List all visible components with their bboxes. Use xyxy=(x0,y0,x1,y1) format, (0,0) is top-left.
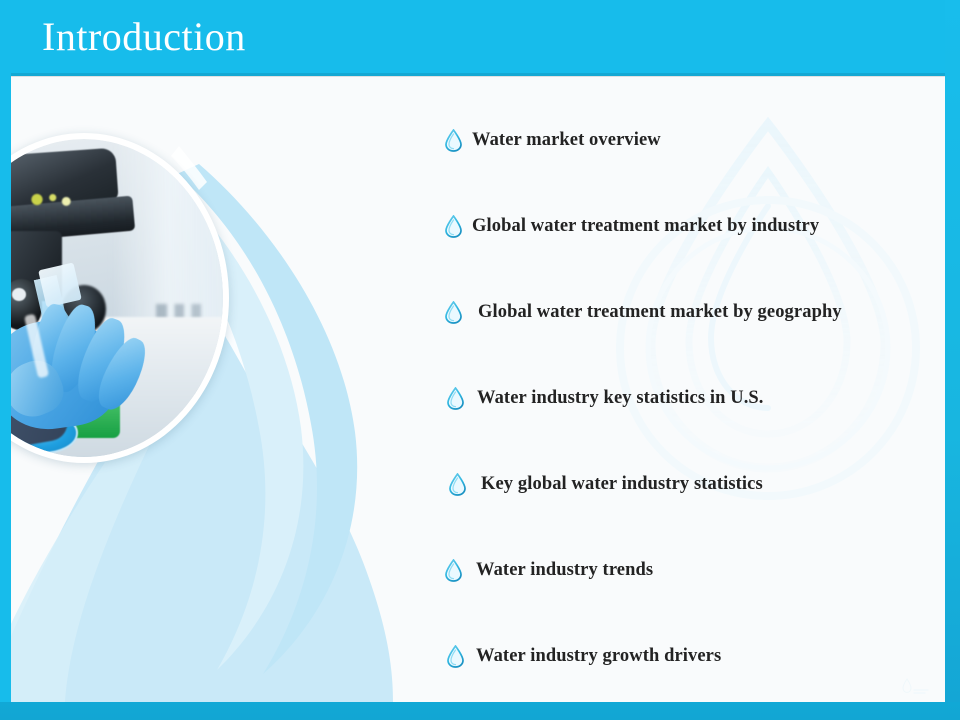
slide-introduction: Introduction xyxy=(0,0,960,720)
water-drop-icon xyxy=(449,473,466,496)
list-item-label: Key global water industry statistics xyxy=(481,474,763,495)
frame-bottom-border xyxy=(0,702,960,720)
water-drop-icon xyxy=(445,301,462,324)
water-drop-icon xyxy=(445,129,462,152)
list-item[interactable]: Global water treatment market by geograp… xyxy=(445,295,842,329)
panel-top-shadow xyxy=(11,73,945,77)
list-item-label: Water industry growth drivers xyxy=(476,646,721,667)
list-item-label: Global water treatment market by geograp… xyxy=(478,302,842,323)
list-item[interactable]: Water industry growth drivers xyxy=(447,639,721,673)
water-drop-icon xyxy=(447,645,464,668)
list-item[interactable]: Water market overview xyxy=(445,123,661,157)
water-drop-icon xyxy=(445,215,462,238)
content-panel: Water market overview Global water treat… xyxy=(11,76,945,702)
list-item-label: Water industry trends xyxy=(476,560,653,581)
list-item-label: Global water treatment market by industr… xyxy=(472,216,819,237)
frame-left-border xyxy=(0,0,11,720)
list-item[interactable]: Water industry key statistics in U.S. xyxy=(447,381,764,415)
list-item-label: Water industry key statistics in U.S. xyxy=(477,388,764,409)
list-item[interactable]: Water industry trends xyxy=(445,553,653,587)
corner-watermark-icon xyxy=(897,676,931,696)
list-item[interactable]: Key global water industry statistics xyxy=(449,467,763,501)
water-drop-icon xyxy=(447,387,464,410)
list-item[interactable]: Global water treatment market by industr… xyxy=(445,209,819,243)
page-title: Introduction xyxy=(42,12,246,62)
water-drop-icon xyxy=(445,559,462,582)
list-item-label: Water market overview xyxy=(472,130,661,151)
frame-right-border xyxy=(945,0,960,720)
bullet-list: Water market overview Global water treat… xyxy=(11,76,945,702)
